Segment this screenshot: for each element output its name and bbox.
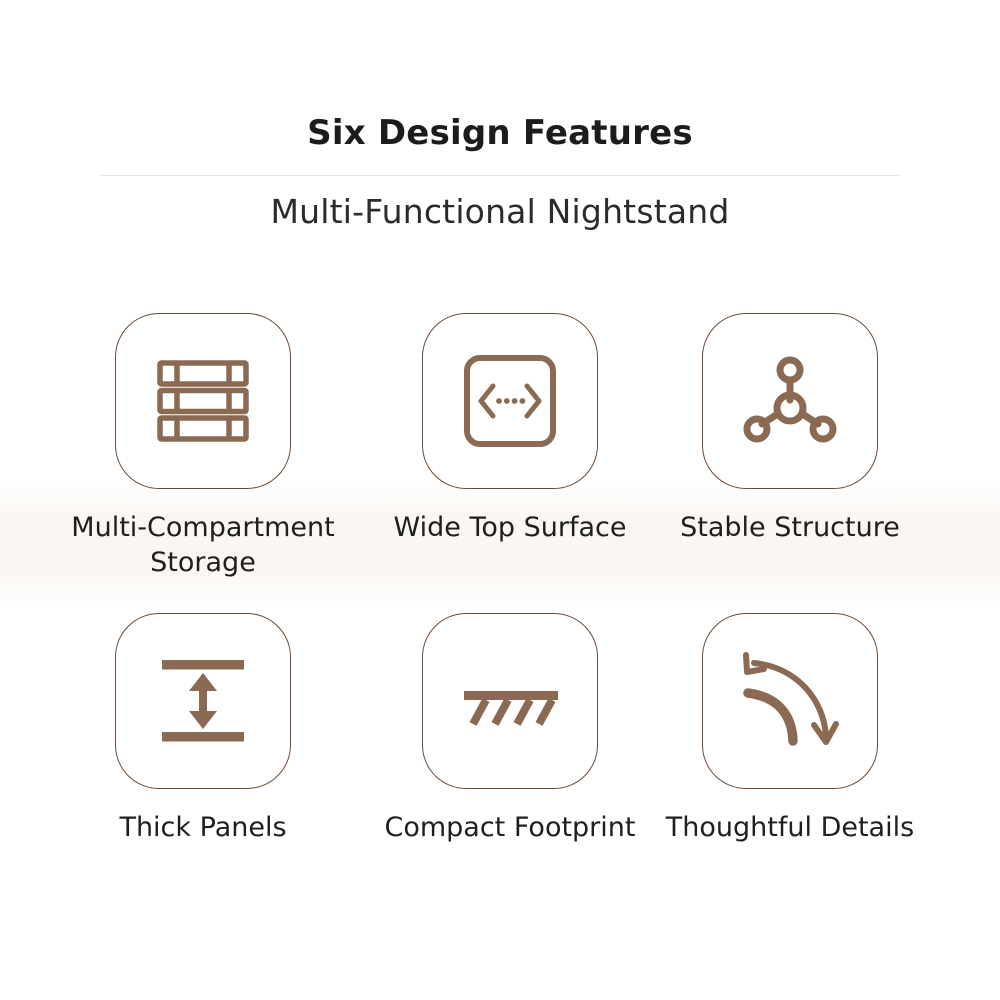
feature-icon-card <box>115 313 291 489</box>
stacked-drawers-icon <box>148 346 258 456</box>
feature-icon-card <box>702 313 878 489</box>
feature-label: Stable Structure <box>630 511 950 546</box>
title-divider <box>100 175 900 176</box>
features-row-2: Thick Panels Compact Footprint <box>0 600 1000 900</box>
feature-label: Compact Footprint <box>350 811 670 846</box>
feature-item-wide-top-surface[interactable]: Wide Top Surface <box>350 300 670 546</box>
feature-icon-card <box>422 313 598 489</box>
molecule-node-structure-icon <box>735 346 845 456</box>
feature-item-stable-structure[interactable]: Stable Structure <box>630 300 950 546</box>
hatched-bar-legs-icon <box>454 645 566 757</box>
vertical-thickness-arrow-icon <box>149 647 257 755</box>
feature-label: Wide Top Surface <box>350 511 670 546</box>
width-arrows-in-frame-icon <box>457 348 563 454</box>
page-subtitle: Multi-Functional Nightstand <box>0 192 1000 231</box>
feature-icon-card <box>702 613 878 789</box>
feature-icon-card <box>422 613 598 789</box>
feature-icon-card <box>115 613 291 789</box>
curved-double-arrow-icon <box>734 645 846 757</box>
page-title: Six Design Features <box>0 113 1000 153</box>
feature-item-thoughtful-details[interactable]: Thoughtful Details <box>630 600 950 846</box>
feature-label: Thoughtful Details <box>630 811 950 846</box>
feature-item-thick-panels[interactable]: Thick Panels <box>43 600 363 846</box>
feature-item-compact-footprint[interactable]: Compact Footprint <box>350 600 670 846</box>
features-grid: Multi-Compartment Storage <box>0 300 1000 900</box>
features-row-1: Multi-Compartment Storage <box>0 300 1000 600</box>
feature-item-multi-compartment-storage[interactable]: Multi-Compartment Storage <box>43 300 363 580</box>
feature-label: Multi-Compartment Storage <box>43 511 363 580</box>
feature-poster: Six Design Features Multi-Functional Nig… <box>0 0 1000 1000</box>
feature-label: Thick Panels <box>43 811 363 846</box>
